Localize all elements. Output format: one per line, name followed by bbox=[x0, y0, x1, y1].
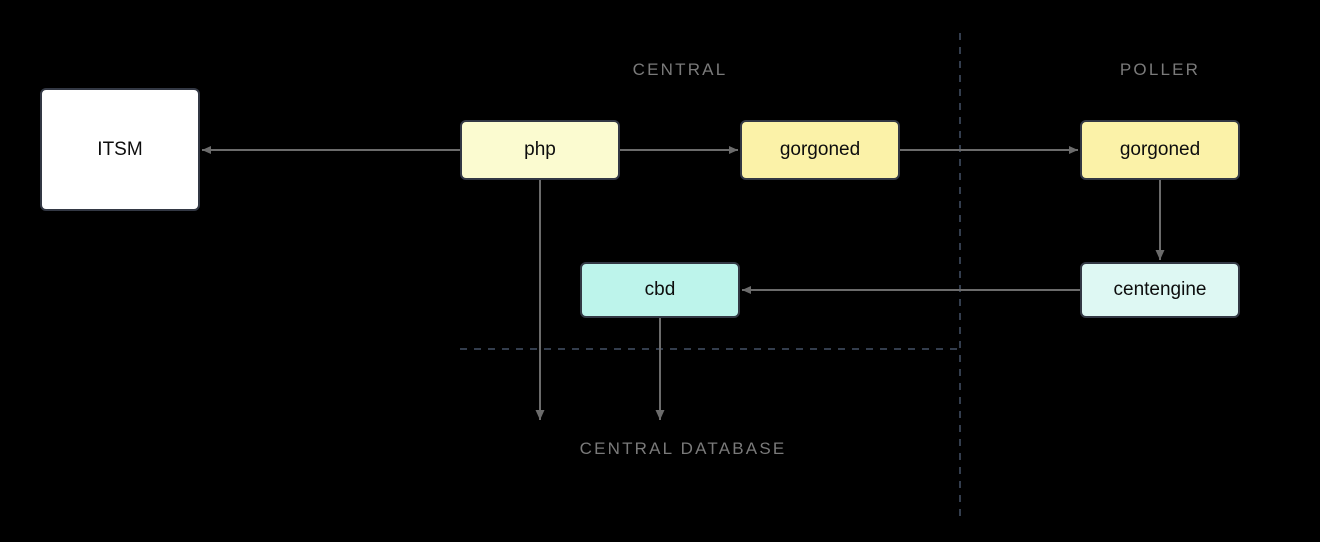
node-centengine[interactable]: centengine bbox=[1080, 262, 1240, 318]
node-gorgoned-central[interactable]: gorgoned bbox=[740, 120, 900, 180]
node-label-gorgoned-poller: gorgoned bbox=[1120, 139, 1200, 161]
zone-label-central-database: CENTRAL DATABASE bbox=[580, 439, 787, 459]
node-label-centengine: centengine bbox=[1114, 279, 1207, 301]
node-itsm[interactable]: ITSM bbox=[40, 88, 200, 211]
node-php[interactable]: php bbox=[460, 120, 620, 180]
diagram-canvas: CENTRALPOLLERCENTRAL DATABASE ITSMphpgor… bbox=[0, 0, 1320, 542]
node-label-gorgoned-central: gorgoned bbox=[780, 139, 860, 161]
zone-label-central: CENTRAL bbox=[633, 60, 728, 80]
node-cbd[interactable]: cbd bbox=[580, 262, 740, 318]
node-label-itsm: ITSM bbox=[97, 139, 142, 161]
zone-label-poller: POLLER bbox=[1120, 60, 1200, 80]
node-label-cbd: cbd bbox=[645, 279, 676, 301]
node-label-php: php bbox=[524, 139, 556, 161]
node-gorgoned-poller[interactable]: gorgoned bbox=[1080, 120, 1240, 180]
